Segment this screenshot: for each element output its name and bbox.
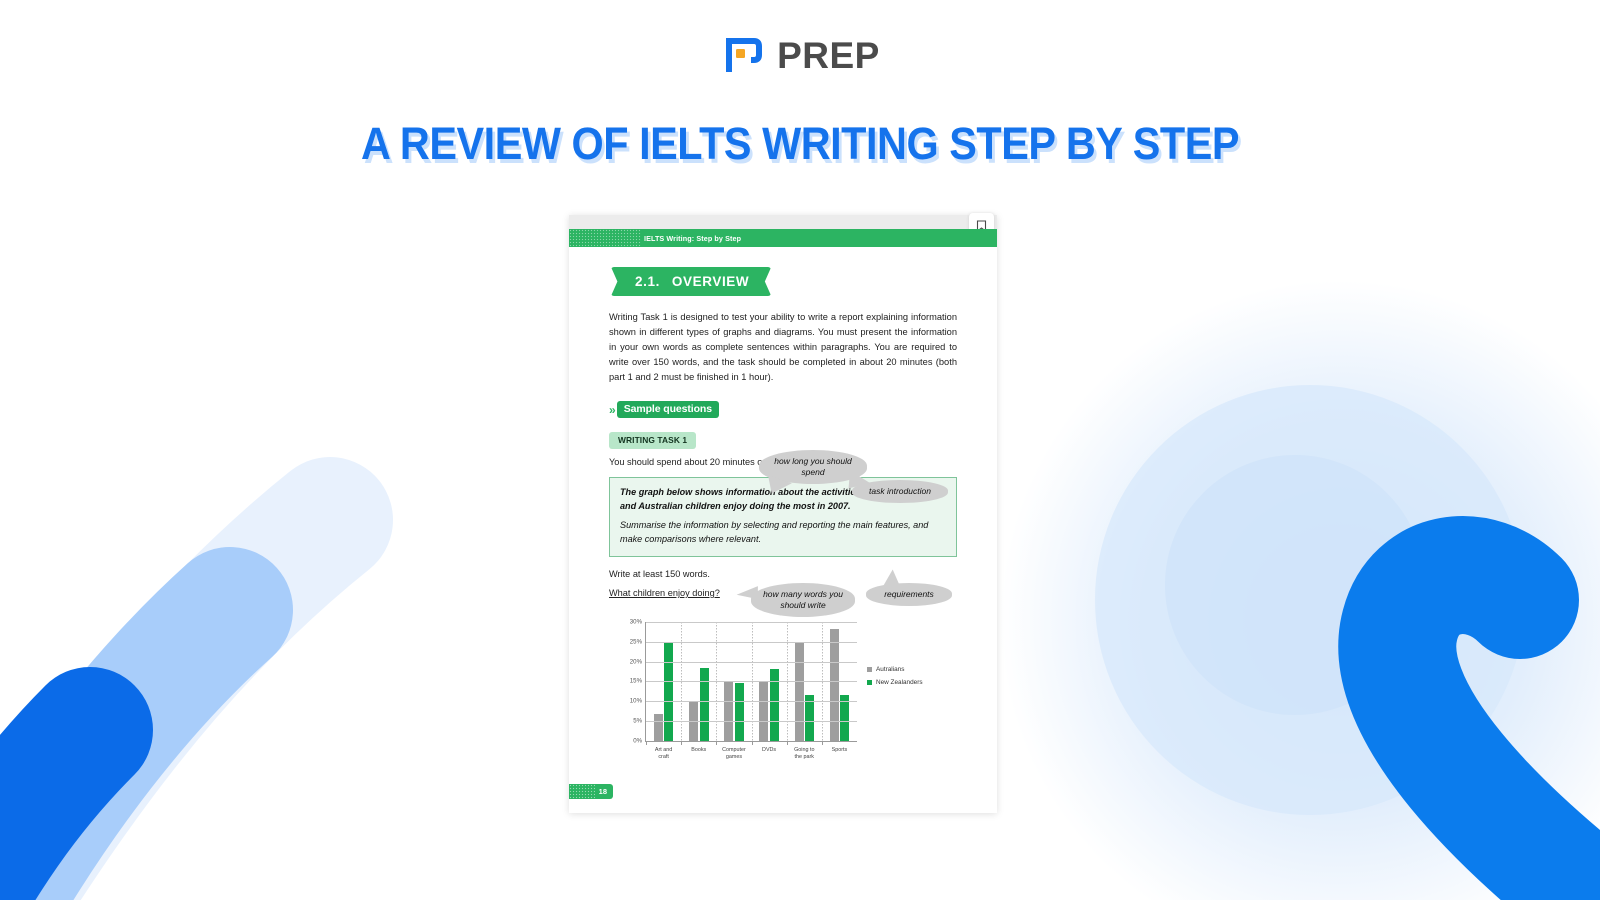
chart-y-tick-label: 10% [630,698,642,705]
chart-bar [735,683,744,741]
chart-bar [700,668,709,741]
chart-bar [759,681,768,741]
overview-paragraph: Writing Task 1 is designed to test your … [609,310,957,385]
chart-x-tick-label: Sports [818,747,860,754]
chart-gridline [646,622,857,623]
chart-gridline [646,681,857,682]
page-root: PREP A Review of IELTS Writing Step by S… [0,0,1600,900]
chart-legend-label: New Zealanders [876,679,923,686]
chart-bar [795,642,804,741]
page-number: 18 [599,787,607,796]
chart-x-tick [646,741,647,745]
chart-legend: AutraliansNew Zealanders [867,666,923,692]
running-head-text: IELTS Writing: Step by Step [644,234,741,243]
prep-logo-icon [720,32,766,78]
chart-plot-area: Art and craftBooksComputer gamesDVDsGoin… [645,622,857,742]
page-number-badge: 18 [569,784,613,799]
document-preview-card[interactable]: IELTS Writing: Step by Step 2.1. OVERVIE… [569,215,997,813]
chart-legend-item: Autralians [867,666,923,673]
brand-name: PREP [777,37,880,74]
callout-word-count: how many words you should write [751,583,855,617]
section-heading: 2.1. OVERVIEW [611,267,771,296]
callout-task-introduction: task introduction [852,480,948,503]
callout-text: how many words you should write [763,589,843,610]
chart-y-tick-label: 20% [630,658,642,665]
chart-y-tick-label: 25% [630,638,642,645]
chart-bar [664,642,673,741]
sample-questions-heading: » Sample questions [609,401,957,418]
chart-y-tick-label: 0% [633,737,642,744]
chart-x-tick [716,741,717,745]
chart-x-tick [752,741,753,745]
chart-bar [654,714,663,741]
chart-gridline [646,642,857,643]
sample-questions-label: Sample questions [617,401,719,418]
dot-pattern-decoration [569,229,641,247]
dot-pattern-decoration [569,784,595,799]
section-number: 2.1. [635,274,660,289]
chart-legend-item: New Zealanders [867,679,923,686]
document-running-head: IELTS Writing: Step by Step [569,229,997,247]
chart-bar [830,629,839,741]
chart-legend-swatch [867,667,872,672]
word-count-instruction: Write at least 150 words. [609,569,957,579]
chart-x-tick [787,741,788,745]
document-top-strip [569,215,997,229]
chart-bar [770,669,779,741]
brand-logo[interactable]: PREP [0,32,1600,78]
callout-text: requirements [884,589,934,599]
section-title: OVERVIEW [672,274,749,289]
chart-gridline [646,662,857,663]
callout-requirements: requirements [866,583,952,606]
chart-gridline [646,721,857,722]
task-prompt-italic: Summarise the information by selecting a… [620,519,946,547]
activities-bar-chart: Art and craftBooksComputer gamesDVDsGoin… [609,614,957,766]
double-chevron-right-icon: » [609,403,613,417]
chart-x-tick [681,741,682,745]
chart-legend-swatch [867,680,872,685]
chart-gridline [646,701,857,702]
document-body: 2.1. OVERVIEW Writing Task 1 is designed… [569,247,997,766]
callout-text: how long you should spend [774,456,852,477]
callout-text: task introduction [869,486,931,496]
chart-bar [724,681,733,741]
chart-legend-label: Autralians [876,666,904,673]
chart-y-tick-label: 15% [630,678,642,685]
chart-y-tick-label: 30% [630,618,642,625]
page-title: A Review of IELTS Writing Step by Step [64,118,1536,170]
chart-y-tick-label: 5% [633,718,642,725]
callout-tail [879,569,900,589]
task-pill: WRITING TASK 1 [609,432,696,449]
chart-x-tick [822,741,823,745]
